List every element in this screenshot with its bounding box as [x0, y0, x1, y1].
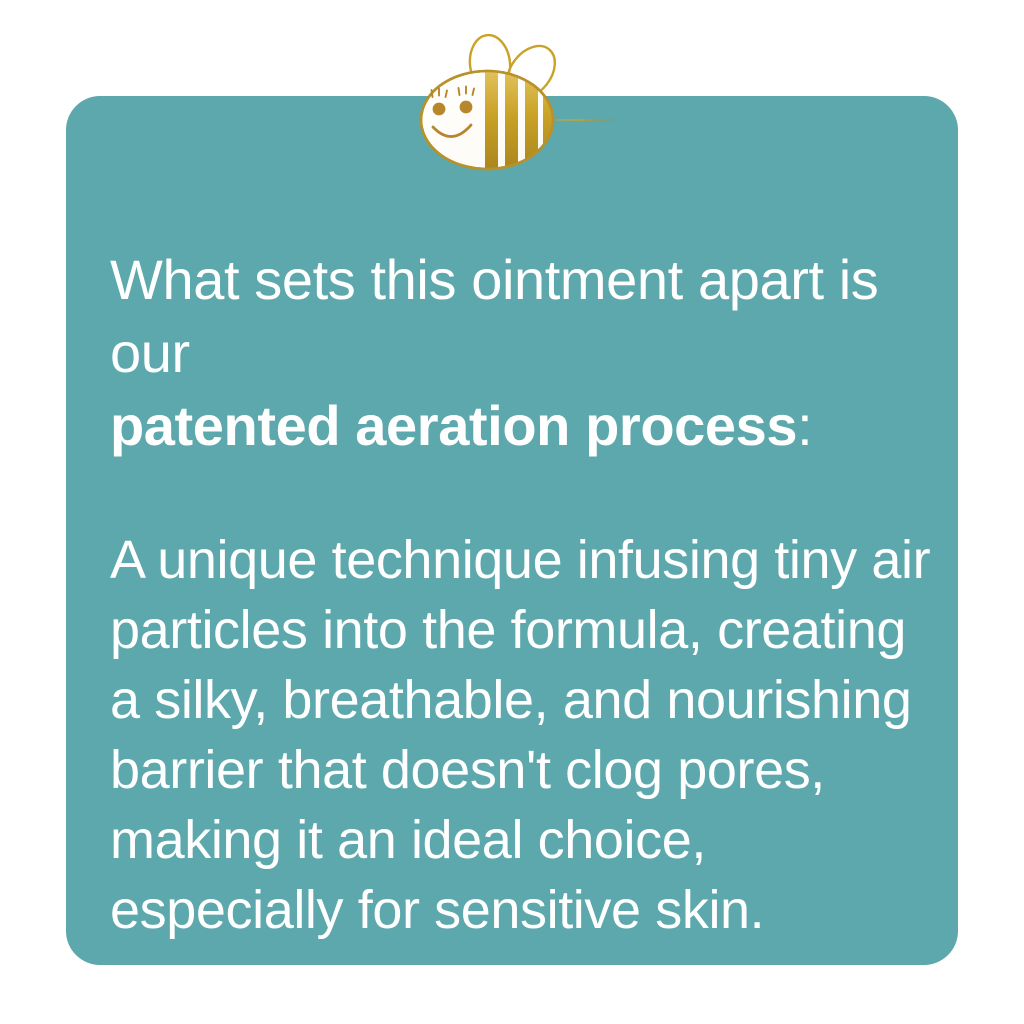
- paragraph-spacer: [110, 462, 926, 525]
- headline: What sets this ointment apart is our pat…: [110, 243, 926, 462]
- body-line: especially for sensitive skin.: [110, 875, 926, 945]
- body-paragraph: A unique technique infusing tiny air par…: [110, 525, 926, 945]
- headline-line-2-bold: patented aeration process: [110, 394, 797, 457]
- body-line: a silky, breathable, and nourishing: [110, 665, 926, 735]
- body-line: barrier that doesn't clog pores,: [110, 735, 926, 805]
- text-block: What sets this ointment apart is our pat…: [110, 243, 926, 945]
- body-line: particles into the formula, creating: [110, 595, 926, 665]
- promo-graphic: What sets this ointment apart is our pat…: [0, 0, 1024, 1024]
- body-line: A unique technique infusing tiny air: [110, 525, 926, 595]
- headline-line-2-tail: :: [797, 394, 812, 457]
- headline-line-1: What sets this ointment apart is our: [110, 248, 878, 384]
- body-line: making it an ideal choice,: [110, 805, 926, 875]
